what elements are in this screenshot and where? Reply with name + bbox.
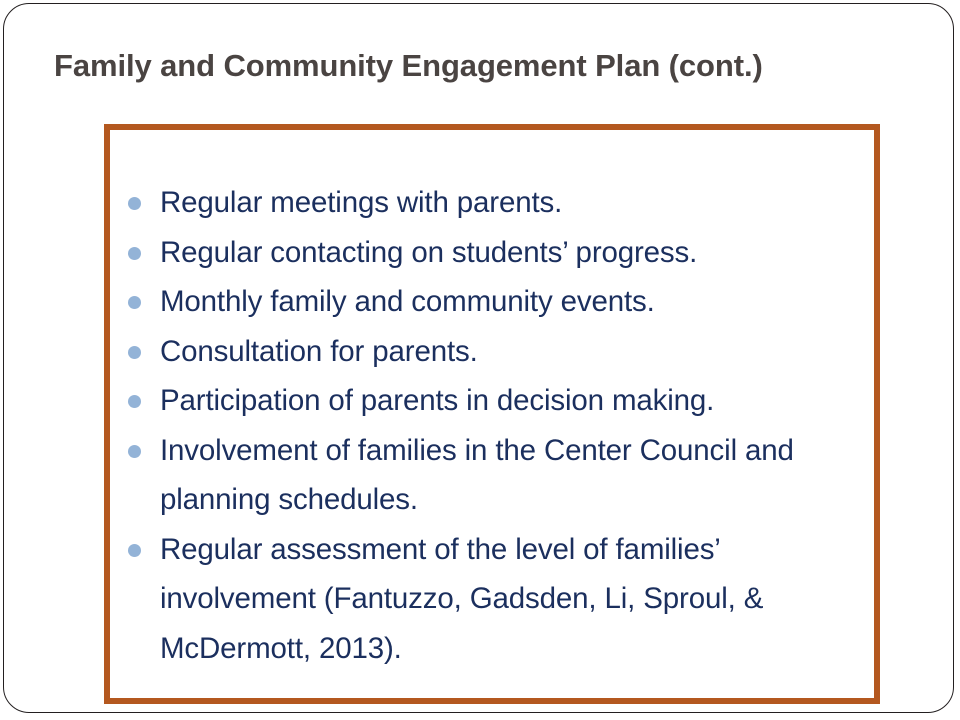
slide: Family and Community Engagement Plan (co… — [0, 0, 960, 720]
list-item: Consultation for parents. — [120, 327, 866, 377]
list-item-label: Consultation for parents. — [160, 327, 866, 377]
bullet-dot-icon — [128, 197, 141, 210]
list-item: Participation of parents in decision mak… — [120, 376, 866, 426]
list-item: Monthly family and community events. — [120, 277, 866, 327]
bullet-dot-icon — [128, 247, 141, 260]
page-title: Family and Community Engagement Plan (co… — [54, 44, 934, 88]
list-item-label: Involvement of families in the Center Co… — [160, 426, 866, 525]
list-item-label: Regular contacting on students’ progress… — [160, 228, 866, 278]
content-box: Regular meetings with parents. Regular c… — [104, 124, 880, 704]
bullet-list: Regular meetings with parents. Regular c… — [120, 178, 866, 673]
list-item: Regular assessment of the level of famil… — [120, 525, 866, 674]
bullet-dot-icon — [128, 445, 141, 458]
bullet-dot-icon — [128, 544, 141, 557]
list-item: Involvement of families in the Center Co… — [120, 426, 866, 525]
list-item-label: Participation of parents in decision mak… — [160, 376, 866, 426]
bullet-dot-icon — [128, 395, 141, 408]
bullet-dot-icon — [128, 296, 141, 309]
list-item: Regular contacting on students’ progress… — [120, 228, 866, 278]
list-item-label: Regular meetings with parents. — [160, 178, 866, 228]
list-item-label: Monthly family and community events. — [160, 277, 866, 327]
list-item: Regular meetings with parents. — [120, 178, 866, 228]
list-item-label: Regular assessment of the level of famil… — [160, 525, 866, 674]
bullet-dot-icon — [128, 346, 141, 359]
